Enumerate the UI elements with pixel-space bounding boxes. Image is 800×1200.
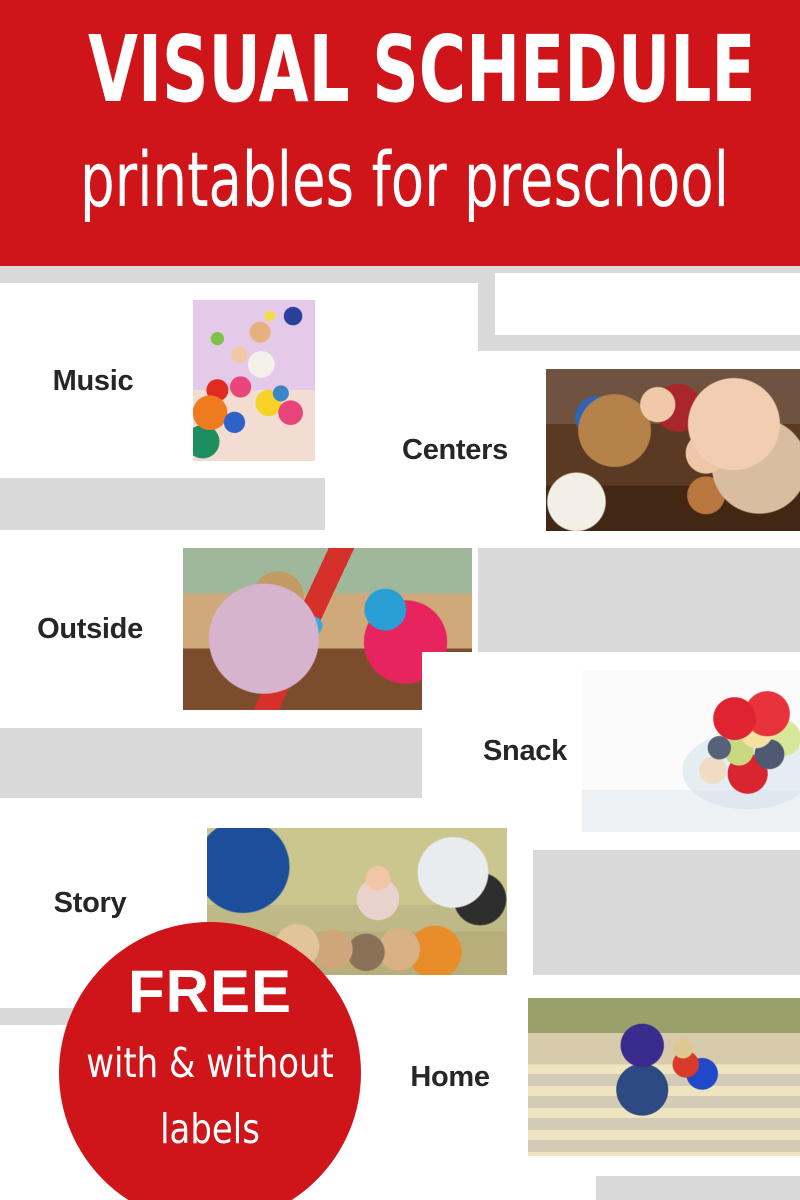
badge-line-2: labels <box>71 1106 349 1152</box>
card-label-centers: Centers <box>370 433 540 467</box>
card-label-home: Home <box>380 1060 520 1094</box>
music-classroom-photo <box>193 300 315 461</box>
card-outside[interactable]: Outside <box>0 530 478 728</box>
page-title: VISUAL SCHEDULE <box>88 24 712 116</box>
card-label-music: Music <box>38 364 148 398</box>
free-badge[interactable]: FREE with & without labels <box>59 922 361 1200</box>
pin-graphic: VISUAL SCHEDULE printables for preschool… <box>0 0 800 1200</box>
snack-fruit-photo <box>582 670 800 832</box>
badge-headline: FREE <box>59 960 361 1024</box>
card-partial-top-right <box>495 273 800 335</box>
card-label-story: Story <box>20 886 160 920</box>
centers-activity-photo <box>546 369 800 531</box>
card-label-snack: Snack <box>460 734 590 768</box>
header-banner: VISUAL SCHEDULE printables for preschool <box>0 0 800 266</box>
card-centers[interactable]: Centers <box>325 351 800 548</box>
card-label-outside: Outside <box>15 612 165 646</box>
page-subtitle: printables for preschool <box>80 140 720 220</box>
badge-line-1: with & without <box>71 1040 349 1086</box>
card-home[interactable]: Home <box>318 975 800 1176</box>
home-walking-photo <box>528 998 800 1156</box>
